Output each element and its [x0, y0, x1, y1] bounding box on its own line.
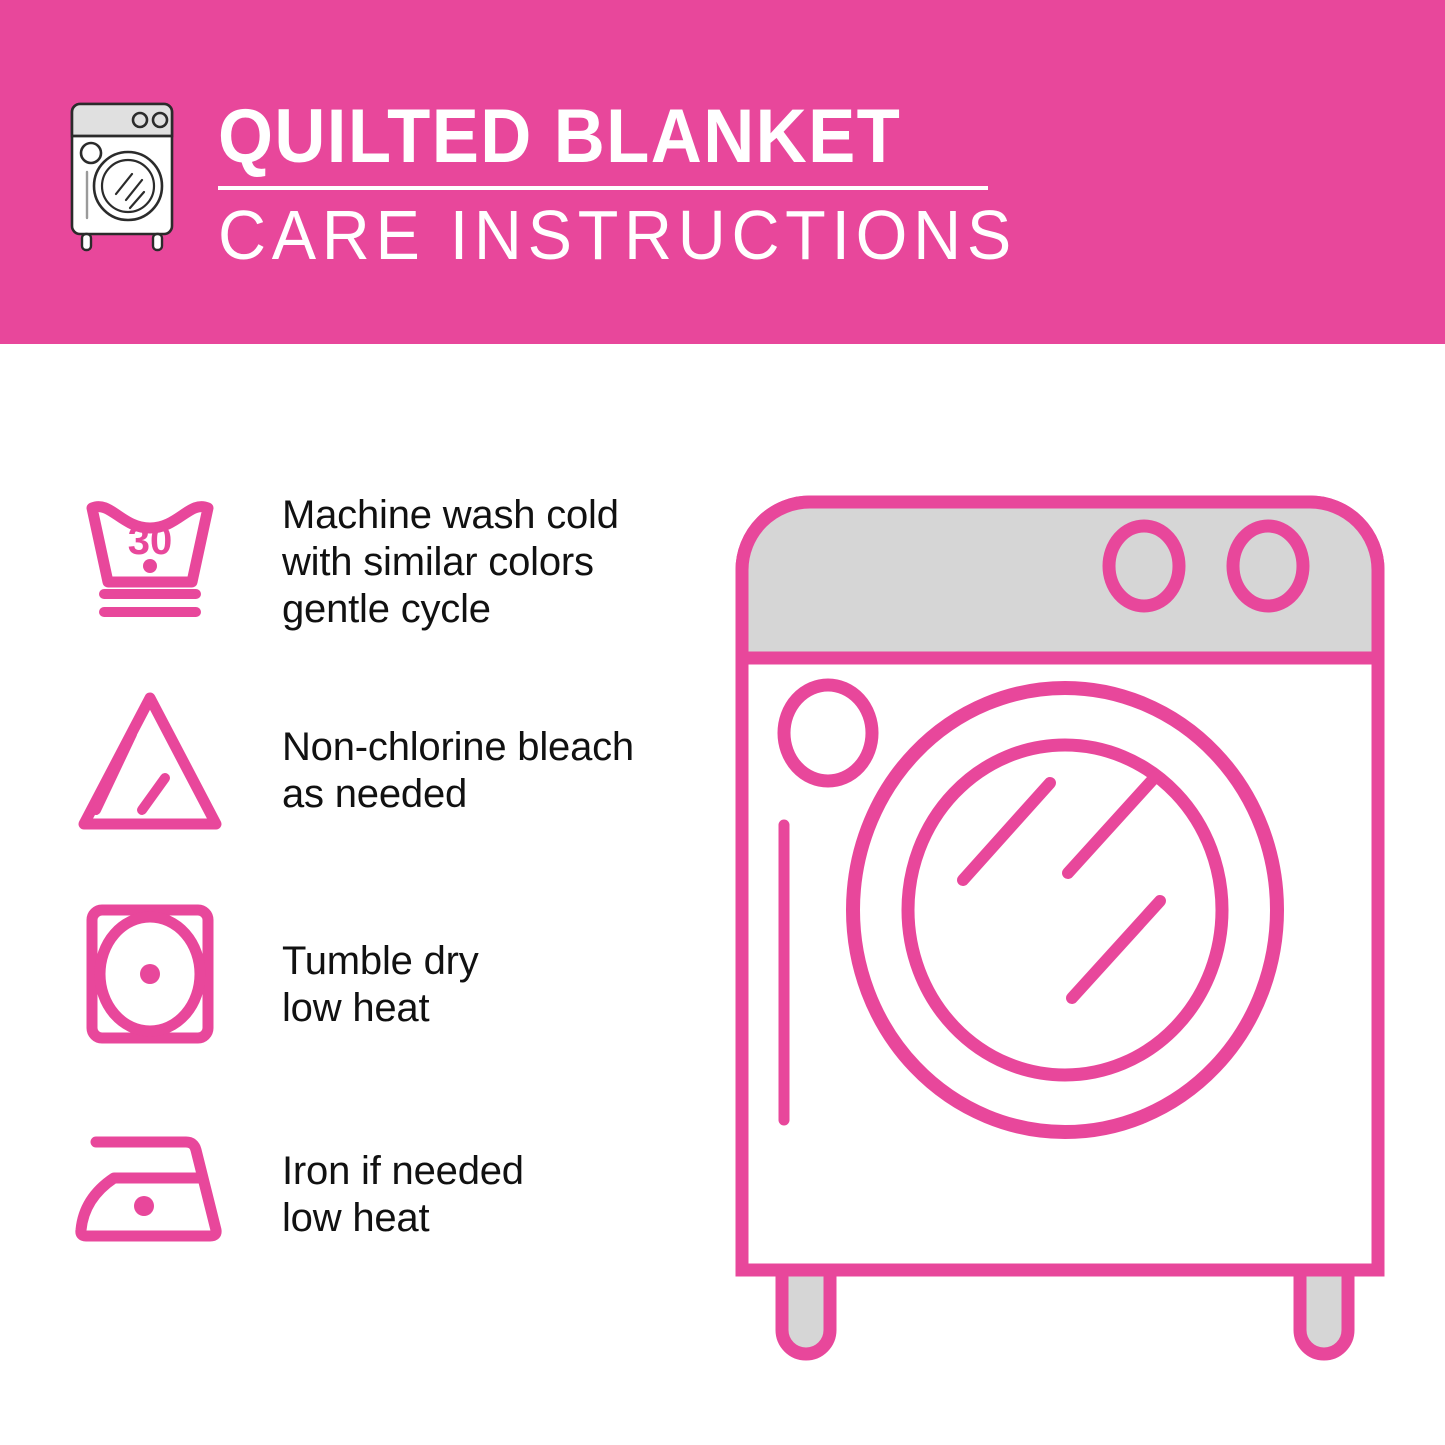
indicator-light [784, 685, 872, 781]
door-inner-ring [908, 745, 1222, 1075]
care-instructions-infographic: QUILTED BLANKET CARE INSTRUCTIONS 30 Mac… [0, 0, 1445, 1445]
bleach-triangle-stripes-icon [70, 682, 230, 842]
header-content: QUILTED BLANKET CARE INSTRUCTIONS [58, 96, 1059, 270]
header-text-block: QUILTED BLANKET CARE INSTRUCTIONS [218, 96, 1059, 270]
care-label-tumble-dry: Tumble dry low heat [282, 894, 690, 1032]
title-divider [218, 186, 988, 190]
care-label-iron: Iron if needed low heat [282, 1106, 690, 1242]
leg-right [1300, 1270, 1348, 1354]
iron-low-heat-icon [70, 1106, 230, 1266]
front-load-washing-machine-illustration [720, 480, 1420, 1370]
washing-machine-icon [58, 96, 186, 256]
page-title: QUILTED BLANKET [218, 100, 1000, 174]
wash-temperature-label: 30 [128, 519, 173, 563]
care-row-bleach: Non-chlorine bleach as needed [70, 682, 690, 894]
knob-left [1109, 526, 1179, 606]
care-label-bleach: Non-chlorine bleach as needed [282, 682, 690, 818]
page-subtitle: CARE INSTRUCTIONS [218, 200, 1017, 270]
wash-basin-30-icon: 30 [70, 470, 230, 630]
care-label-machine-wash: Machine wash cold with similar colors ge… [282, 470, 690, 634]
header-band: QUILTED BLANKET CARE INSTRUCTIONS [0, 0, 1445, 344]
tumble-dry-low-icon [70, 894, 230, 1054]
care-row-iron: Iron if needed low heat [70, 1106, 690, 1318]
care-row-machine-wash: 30 Machine wash cold with similar colors… [70, 470, 690, 682]
knob-right [1233, 526, 1303, 606]
care-instruction-list: 30 Machine wash cold with similar colors… [70, 470, 690, 1318]
leg-left [782, 1270, 830, 1354]
care-row-tumble-dry: Tumble dry low heat [70, 894, 690, 1106]
